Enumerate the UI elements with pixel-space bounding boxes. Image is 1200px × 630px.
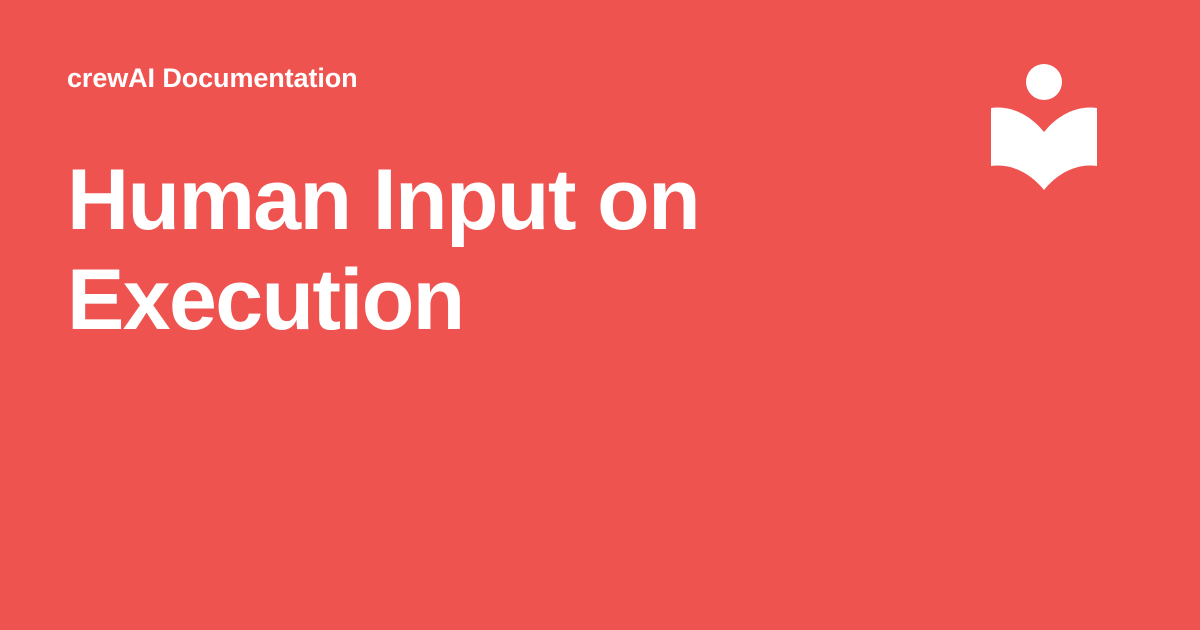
site-name-eyebrow: crewAI Documentation bbox=[67, 62, 827, 94]
page-title: Human Input on Execution bbox=[67, 150, 767, 350]
card-content: crewAI Documentation Human Input on Exec… bbox=[67, 62, 827, 350]
og-social-card: crewAI Documentation Human Input on Exec… bbox=[0, 0, 1200, 630]
open-book-reader-logo bbox=[986, 60, 1102, 195]
book-left-page-icon bbox=[991, 108, 1044, 190]
reader-head-icon bbox=[1026, 64, 1062, 100]
book-right-page-icon bbox=[1044, 108, 1097, 190]
